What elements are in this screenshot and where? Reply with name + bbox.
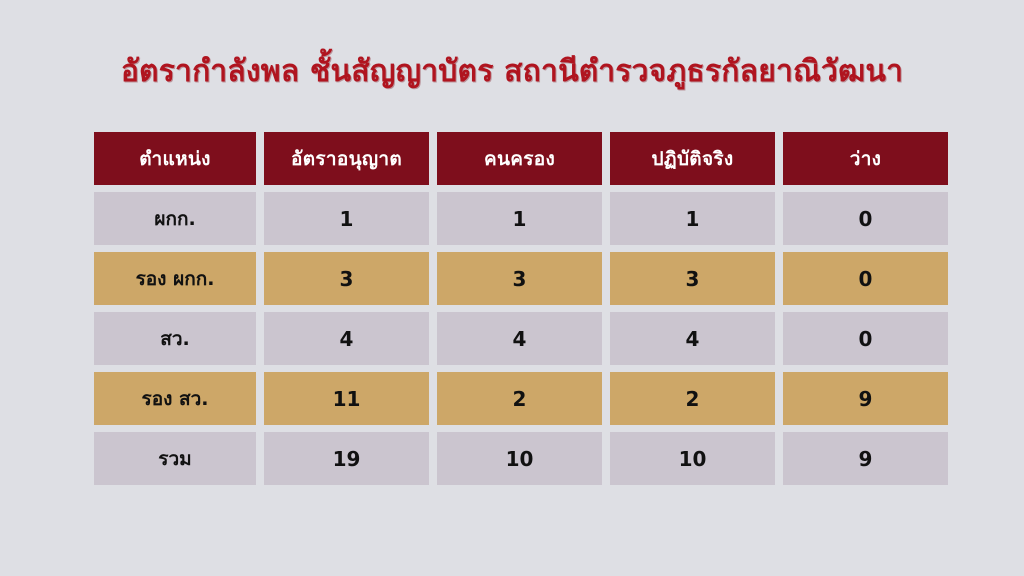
cell-vacant: 0 xyxy=(783,192,948,245)
page-title: อัตรากำลังพล ชั้นสัญญาบัตร สถานีตำรวจภูธ… xyxy=(0,53,1024,91)
cell-position: รอง ผกก. xyxy=(94,252,256,305)
cell-actual: 4 xyxy=(610,312,775,365)
table-row: รอง สว. 11 2 2 9 xyxy=(94,372,948,425)
column-header-held: คนครอง xyxy=(437,132,602,185)
cell-held: 1 xyxy=(437,192,602,245)
column-header-actual: ปฏิบัติจริง xyxy=(610,132,775,185)
table-row: ผกก. 1 1 1 0 xyxy=(94,192,948,245)
cell-vacant: 9 xyxy=(783,372,948,425)
column-header-vacant: ว่าง xyxy=(783,132,948,185)
cell-allowed: 11 xyxy=(264,372,429,425)
cell-actual: 2 xyxy=(610,372,775,425)
cell-allowed: 4 xyxy=(264,312,429,365)
cell-position: รอง สว. xyxy=(94,372,256,425)
column-header-allowed: อัตราอนุญาต xyxy=(264,132,429,185)
cell-actual: 10 xyxy=(610,432,775,485)
column-header-position: ตำแหน่ง xyxy=(94,132,256,185)
table-row: รอง ผกก. 3 3 3 0 xyxy=(94,252,948,305)
table-header: ตำแหน่ง อัตราอนุญาต คนครอง ปฏิบัติจริง ว… xyxy=(94,132,948,185)
cell-vacant: 9 xyxy=(783,432,948,485)
cell-position: รวม xyxy=(94,432,256,485)
table-row: สว. 4 4 4 0 xyxy=(94,312,948,365)
cell-vacant: 0 xyxy=(783,312,948,365)
table-header-row: ตำแหน่ง อัตราอนุญาต คนครอง ปฏิบัติจริง ว… xyxy=(94,132,948,185)
cell-held: 4 xyxy=(437,312,602,365)
table-row-total: รวม 19 10 10 9 xyxy=(94,432,948,485)
cell-held: 10 xyxy=(437,432,602,485)
cell-vacant: 0 xyxy=(783,252,948,305)
table-body: ผกก. 1 1 1 0 รอง ผกก. 3 3 3 0 สว. 4 4 4 … xyxy=(94,192,948,485)
cell-allowed: 3 xyxy=(264,252,429,305)
cell-allowed: 19 xyxy=(264,432,429,485)
cell-position: สว. xyxy=(94,312,256,365)
cell-position: ผกก. xyxy=(94,192,256,245)
slide-canvas: อัตรากำลังพล ชั้นสัญญาบัตร สถานีตำรวจภูธ… xyxy=(0,0,1024,576)
cell-held: 3 xyxy=(437,252,602,305)
manpower-table: ตำแหน่ง อัตราอนุญาต คนครอง ปฏิบัติจริง ว… xyxy=(86,125,956,492)
cell-allowed: 1 xyxy=(264,192,429,245)
cell-actual: 1 xyxy=(610,192,775,245)
cell-held: 2 xyxy=(437,372,602,425)
cell-actual: 3 xyxy=(610,252,775,305)
